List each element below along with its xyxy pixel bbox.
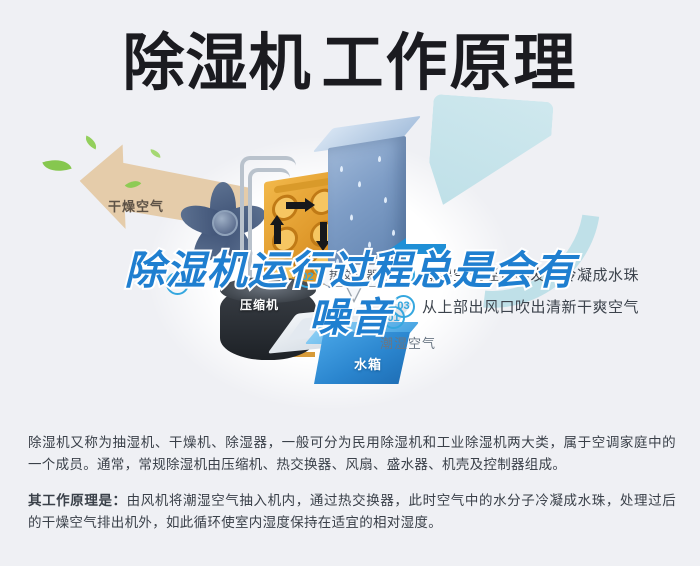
leaf-icon	[42, 154, 71, 176]
overlay-line-1: 除湿机运行过程总是会有	[0, 248, 700, 295]
water-droplet	[368, 241, 371, 247]
paragraph-2-lead: 其工作原理是：	[28, 493, 127, 508]
page-title: 除湿机工作原理	[0, 26, 700, 102]
overlay-headline: 除湿机运行过程总是会有 噪音	[0, 248, 700, 342]
fan-hub	[212, 210, 238, 236]
infographic-page: 除湿机工作原理 干燥空气	[0, 0, 700, 566]
title-part-1: 除湿机	[122, 29, 311, 98]
paragraph-1: 除湿机又称为抽湿机、干燥机、除湿器，一般可分为民用除湿机和工业除湿机两大类，属于…	[28, 432, 676, 476]
water-droplet	[378, 156, 381, 162]
overlay-line-2: 噪音	[0, 295, 700, 342]
water-droplet	[384, 197, 387, 203]
title-part-2: 工作原理	[322, 29, 578, 98]
leaf-icon	[83, 136, 99, 150]
dry-air-label: 干燥空气	[108, 196, 164, 215]
paragraph-2: 其工作原理是：由风机将潮湿空气抽入机内，通过热交换器，此时空气中的水分子冷凝成水…	[28, 490, 676, 534]
water-droplet	[392, 230, 395, 236]
flow-arrow-right	[286, 202, 306, 209]
water-droplet	[358, 181, 361, 187]
water-droplet	[350, 214, 353, 220]
flow-arrow-down	[320, 222, 327, 242]
water-tank-label: 水箱	[354, 354, 382, 373]
water-droplet	[340, 166, 343, 172]
body-copy: 除湿机又称为抽湿机、干燥机、除湿器，一般可分为民用除湿机和工业除湿机两大类，属于…	[28, 418, 676, 548]
flow-arrow-up	[274, 224, 281, 244]
